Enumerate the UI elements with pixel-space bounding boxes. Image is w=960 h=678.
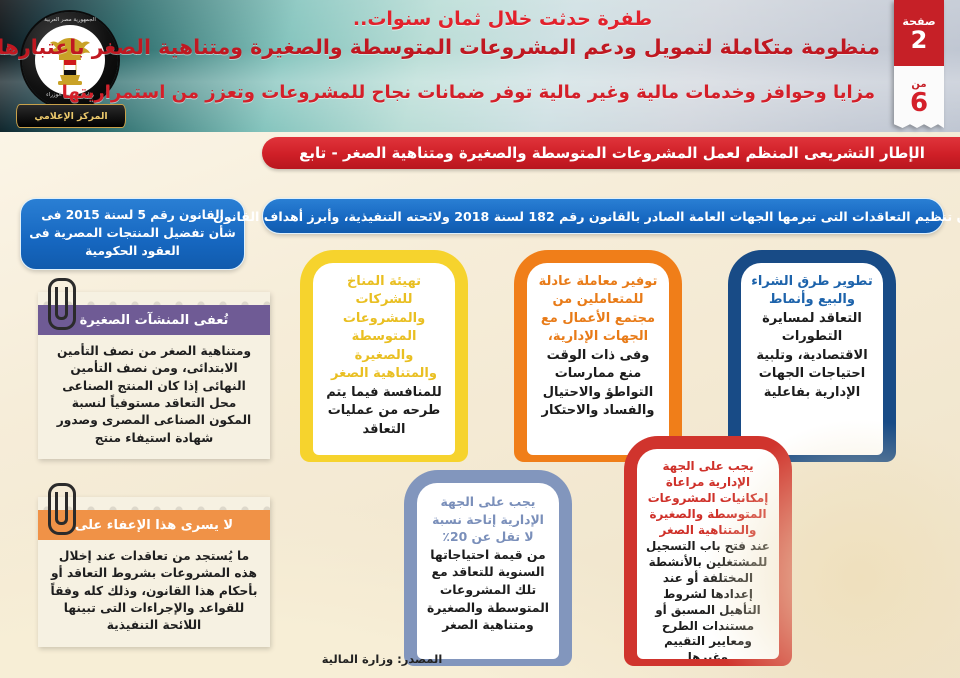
logo-ribbon: المركز الإعلامي [16, 104, 126, 128]
tag-card-navy-paragraph: تطوير طرق الشراء والبيع وأنماط التعاقد ل… [750, 273, 874, 402]
section-ribbon: الإطار التشريعى المنظم لعمل المشروعات ال… [262, 137, 960, 169]
logo-ribbon-text: المركز الإعلامي [34, 111, 107, 122]
paperclip-icon [48, 278, 76, 330]
header-title: منظومة متكاملة لتمويل ودعم المشروعات الم… [118, 35, 880, 59]
logo-arc-top-text: الجمهورية مصر العربية [22, 17, 118, 23]
tag-card-orange-rest: وفى ذات الوقت منع ممارسات التواطؤ والاحت… [536, 347, 660, 421]
tag-card-orange-sheet: توفير معاملة عادلة للمتعاملين من مجتمع ا… [527, 263, 669, 455]
tag-card-navy-highlight: تطوير طرق الشراء والبيع وأنماط [750, 273, 874, 310]
header-subtitle: مزايا وحوافز وخدمات مالية وغير مالية توف… [130, 82, 875, 103]
tag-card-red: يجب على الجهة الإدارية مراعاة إمكانيات ا… [624, 436, 792, 666]
tag-card-red-paragraph: يجب على الجهة الإدارية مراعاة إمكانيات ا… [646, 459, 770, 659]
note-title: تُعفى المنشآت الصغيرة [80, 313, 229, 328]
total-pages: 6 [910, 91, 928, 116]
note-body: ما يُستجد من تعاقدات عند إخلال هذه المشر… [38, 540, 270, 647]
tag-card-navy-sheet: تطوير طرق الشراء والبيع وأنماط التعاقد ل… [741, 263, 883, 455]
header-kicker: طفرة حدثت خلال ثمان سنوات.. [130, 8, 875, 30]
tag-card-orange-paragraph: توفير معاملة عادلة للمتعاملين من مجتمع ا… [536, 273, 660, 421]
source-credit: المصدر: وزارة المالية [262, 652, 502, 666]
tag-card-slate-paragraph: يجب على الجهة الإدارية إتاحة نسبة لا تقل… [426, 493, 550, 634]
tag-card-red-highlight: يجب على الجهة الإدارية مراعاة إمكانيات ا… [646, 459, 770, 539]
note-body-text: ما يُستجد من تعاقدات عند إخلال هذه المشر… [49, 548, 259, 635]
page-number: 2 [911, 29, 928, 52]
header-band: الجمهورية مصر العربية رئاسة مجلس الوزراء… [0, 0, 960, 132]
law-2018-banner: قانون تنظيم التعاقدات التى تبرمها الجهات… [262, 198, 944, 234]
law-2018-text: قانون تنظيم التعاقدات التى تبرمها الجهات… [213, 209, 960, 224]
infographic-page: الجمهورية مصر العربية رئاسة مجلس الوزراء… [0, 0, 960, 678]
section-ribbon-text: الإطار التشريعى المنظم لعمل المشروعات ال… [299, 144, 925, 162]
tag-card-red-sheet: يجب على الجهة الإدارية مراعاة إمكانيات ا… [637, 449, 779, 659]
tag-card-slate-rest: من قيمة احتياجاتها السنوية للتعاقد مع تل… [426, 546, 550, 634]
tag-card-orange: توفير معاملة عادلة للمتعاملين من مجتمع ا… [514, 250, 682, 462]
tag-card-red-rest: عند فتح باب التسجيل للمشتغلين بالأنشطة ا… [646, 539, 770, 659]
note-body-text: ومتناهية الصغر من نصف التأمين الابتدائى،… [49, 343, 259, 447]
tag-card-slate: يجب على الجهة الإدارية إتاحة نسبة لا تقل… [404, 470, 572, 666]
tag-card-yellow-sheet: تهيئة المناخ للشركات والمشروعات المتوسطة… [313, 263, 455, 455]
page-badge-top: صفحة 2 [894, 0, 944, 66]
tag-card-yellow-rest: للمنافسة فيما يتم طرحه من عمليات التعاقد [322, 384, 446, 439]
tag-card-orange-highlight: توفير معاملة عادلة للمتعاملين من مجتمع ا… [536, 273, 660, 347]
tag-card-navy: تطوير طرق الشراء والبيع وأنماط التعاقد ل… [728, 250, 896, 462]
note-title: لا يسرى هذا الإعفاء على [75, 518, 233, 533]
note-body: ومتناهية الصغر من نصف التأمين الابتدائى،… [38, 335, 270, 459]
law-2015-pill: القانون رقم 5 لسنة 2015 فى شأن تفضيل الم… [20, 198, 245, 270]
law-2015-text: القانون رقم 5 لسنة 2015 فى شأن تفضيل الم… [29, 207, 236, 260]
tag-card-yellow-paragraph: تهيئة المناخ للشركات والمشروعات المتوسطة… [322, 273, 446, 439]
tag-card-yellow-highlight: تهيئة المناخ للشركات والمشروعات المتوسطة… [322, 273, 446, 384]
tag-card-navy-rest: التعاقد لمسايرة التطورات الاقتصادية، وتل… [750, 310, 874, 402]
tag-card-slate-highlight: يجب على الجهة الإدارية إتاحة نسبة لا تقل… [426, 493, 550, 546]
cabinet-information-center-logo: الجمهورية مصر العربية رئاسة مجلس الوزراء… [8, 4, 126, 128]
tag-card-slate-sheet: يجب على الجهة الإدارية إتاحة نسبة لا تقل… [417, 483, 559, 659]
paperclip-icon [48, 483, 76, 535]
page-badge-bottom: من 6 [894, 66, 944, 128]
page-badge: صفحة 2 من 6 [894, 0, 944, 130]
tag-card-yellow: تهيئة المناخ للشركات والمشروعات المتوسطة… [300, 250, 468, 462]
